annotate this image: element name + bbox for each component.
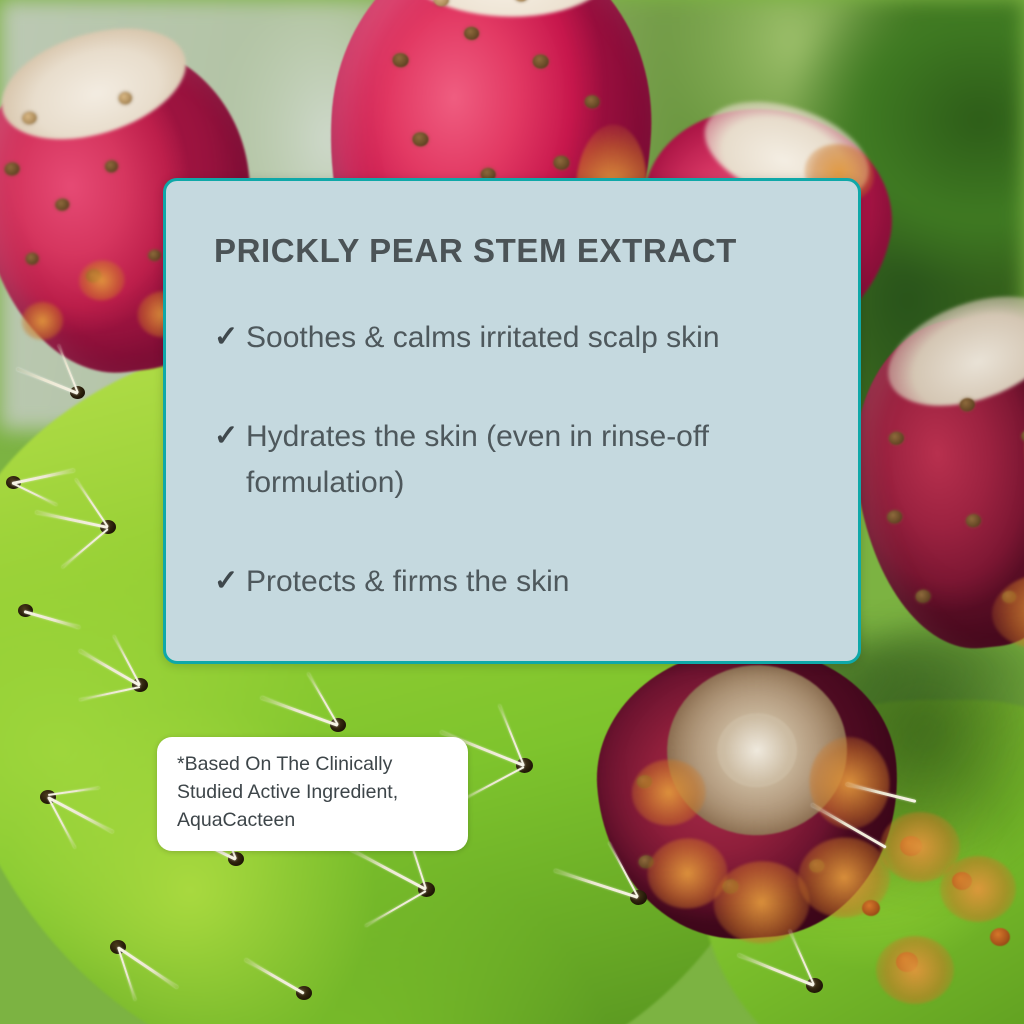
prickly-pear-fruit-right — [841, 307, 1024, 659]
benefit-text: Protects & firms the skin — [246, 559, 806, 606]
spine-areole — [806, 978, 823, 993]
areole-tuft — [876, 936, 954, 1004]
checkmark-icon: ✓ — [214, 559, 246, 604]
benefit-text: Soothes & calms irritated scalp skin — [246, 315, 806, 362]
rust-areole — [990, 928, 1010, 946]
benefit-list: ✓ Soothes & calms irritated scalp skin ✓… — [214, 315, 814, 605]
checkmark-icon: ✓ — [214, 414, 246, 459]
benefit-list-item: ✓ Soothes & calms irritated scalp skin — [214, 315, 814, 362]
benefit-list-item: ✓ Hydrates the skin (even in rinse-off f… — [214, 414, 814, 507]
rust-areole — [862, 900, 880, 916]
ingredient-info-card: PRICKLY PEAR STEM EXTRACT ✓ Soothes & ca… — [163, 178, 861, 664]
benefit-list-item: ✓ Protects & firms the skin — [214, 559, 814, 606]
benefit-text: Hydrates the skin (even in rinse-off for… — [246, 414, 806, 507]
footnote-disclaimer: *Based On The Clinically Studied Active … — [157, 737, 468, 851]
checkmark-icon: ✓ — [214, 315, 246, 360]
areole-tuft — [940, 856, 1016, 922]
promo-graphic: PRICKLY PEAR STEM EXTRACT ✓ Soothes & ca… — [0, 0, 1024, 1024]
card-title: PRICKLY PEAR STEM EXTRACT — [214, 233, 814, 269]
